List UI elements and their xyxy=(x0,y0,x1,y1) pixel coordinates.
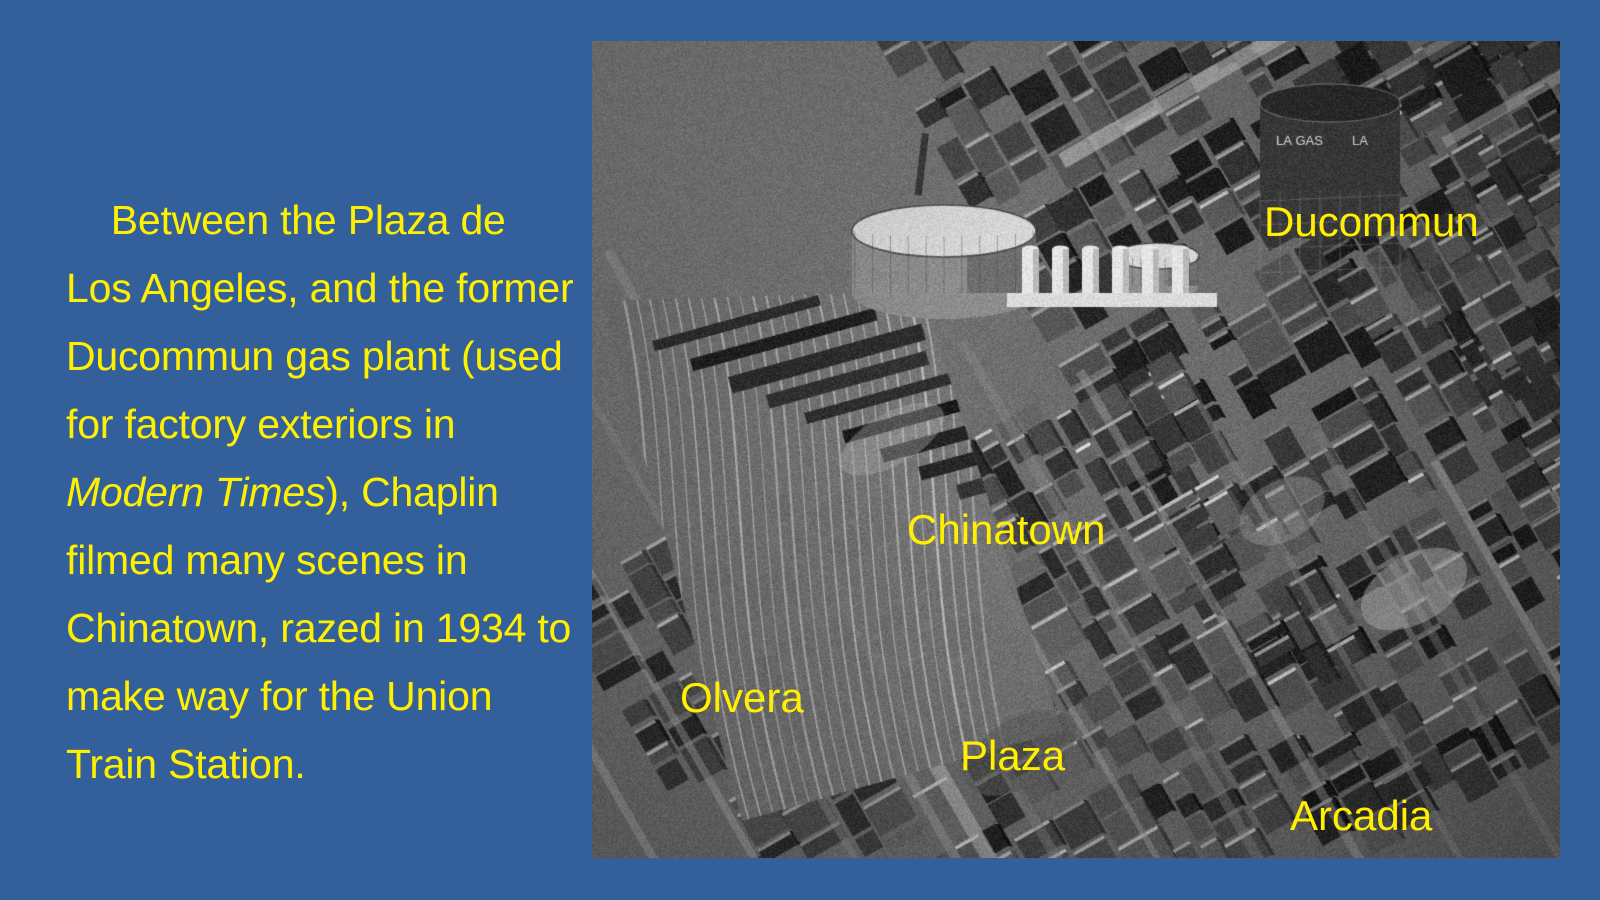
caption-segment-italic-film-title: Modern Times xyxy=(66,469,325,515)
aerial-photograph-canvas xyxy=(592,41,1560,858)
caption-segment-3: ), Chaplin filmed many scenes in Chinato… xyxy=(66,469,582,787)
caption-text-block: Between the Plaza de Los Angeles, and th… xyxy=(66,118,576,866)
aerial-photograph: Ducommun Chinatown Olvera Plaza Arcadia xyxy=(592,41,1560,858)
caption-segment-1: Between the Plaza de Los Angeles, and th… xyxy=(66,197,585,447)
slide-canvas: Between the Plaza de Los Angeles, and th… xyxy=(0,0,1600,900)
